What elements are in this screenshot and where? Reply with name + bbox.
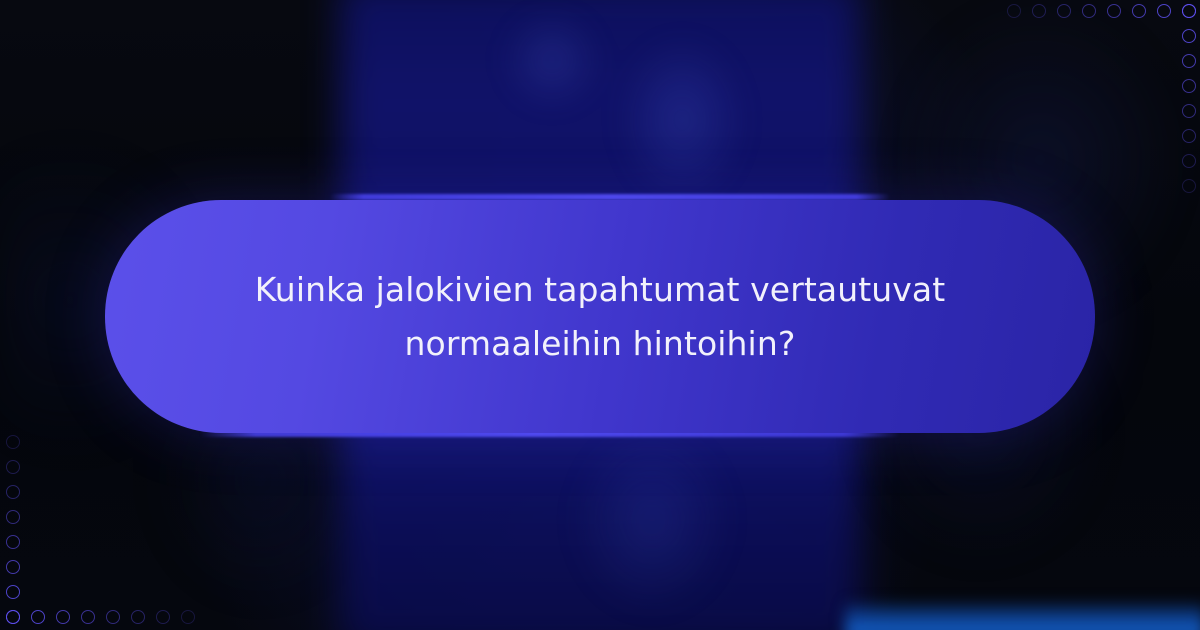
decorative-circle-icon xyxy=(1032,4,1046,18)
decorative-circle-icon xyxy=(1007,4,1021,18)
decorative-circle-icon xyxy=(1082,4,1096,18)
decorative-circle-icon xyxy=(1182,104,1196,118)
decorative-circle-icon xyxy=(1182,4,1196,18)
decorative-circle-icon xyxy=(1182,129,1196,143)
decorative-circle-icon xyxy=(1107,4,1121,18)
decorative-circle-icon xyxy=(156,610,170,624)
background-bottom-glow xyxy=(845,600,1200,630)
question-text: Kuinka jalokivien tapahtumat vertautuvat… xyxy=(220,263,980,370)
decorative-circle-icon xyxy=(6,435,20,449)
decorative-circle-icon xyxy=(1182,154,1196,168)
slide-canvas: Kuinka jalokivien tapahtumat vertautuvat… xyxy=(0,0,1200,630)
decorative-circle-icon xyxy=(6,585,20,599)
decorative-circle-icon xyxy=(6,560,20,574)
decorative-circle-icon xyxy=(131,610,145,624)
decorative-circle-icon xyxy=(6,485,20,499)
decorative-circle-icon xyxy=(1057,4,1071,18)
decorative-circle-icon xyxy=(6,535,20,549)
decorative-circle-icon xyxy=(56,610,70,624)
question-card: Kuinka jalokivien tapahtumat vertautuvat… xyxy=(105,200,1095,433)
decorative-circle-icon xyxy=(1182,54,1196,68)
decorative-circle-icon xyxy=(1157,4,1171,18)
decorative-circle-icon xyxy=(1182,29,1196,43)
decorative-circle-icon xyxy=(1132,4,1146,18)
decorative-circle-icon xyxy=(81,610,95,624)
decorative-circle-icon xyxy=(6,510,20,524)
decorative-circle-icon xyxy=(1182,179,1196,193)
decorative-circle-icon xyxy=(181,610,195,624)
decorative-circle-icon xyxy=(6,610,20,624)
decorative-circle-icon xyxy=(31,610,45,624)
decorative-circle-icon xyxy=(6,460,20,474)
decorative-circle-icon xyxy=(106,610,120,624)
decorative-circle-icon xyxy=(1182,79,1196,93)
